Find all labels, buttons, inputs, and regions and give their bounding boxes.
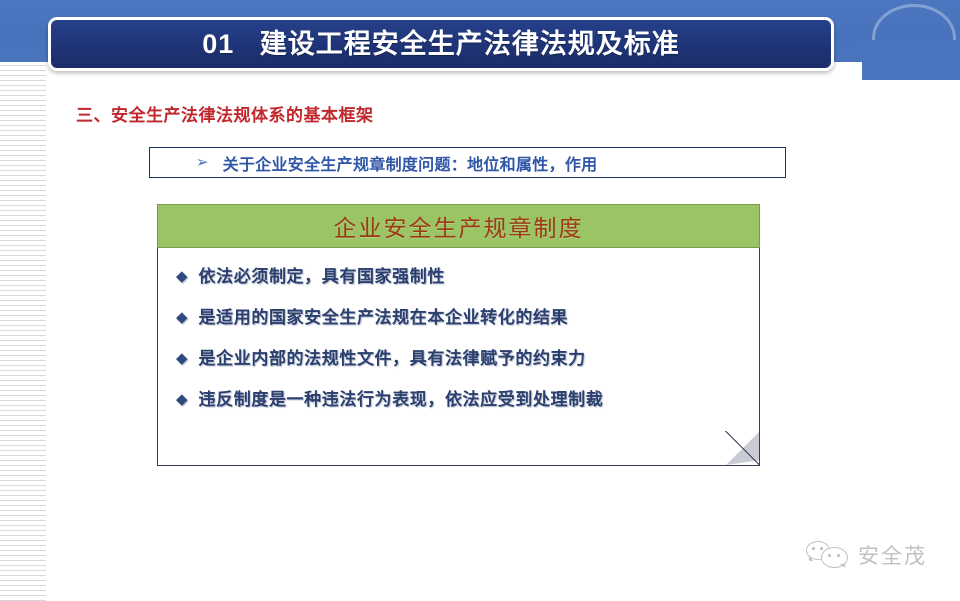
arc-decoration-mask <box>862 40 960 80</box>
bullet-list: ◆ 依法必须制定，具有国家强制性 ◆ 是适用的国家安全生产法规在本企业转化的结果… <box>176 262 751 426</box>
page-title: 建设工程安全生产法律法规及标准 <box>260 31 680 58</box>
wechat-dot <box>820 547 823 550</box>
section-heading: 三、安全生产法律法规体系的基本框架 <box>76 101 374 126</box>
list-item: ◆ 依法必须制定，具有国家强制性 <box>176 262 751 303</box>
card-header: 企业安全生产规章制度 <box>157 204 760 248</box>
wechat-bubble-front-tail <box>840 564 846 569</box>
page-curl-edge <box>725 431 760 466</box>
diamond-bullet-icon: ◆ <box>176 385 188 415</box>
wechat-dot <box>828 554 831 557</box>
list-item: ◆ 是适用的国家安全生产法规在本企业转化的结果 <box>176 303 751 344</box>
left-stripe-decoration <box>0 62 46 601</box>
watermark-label: 安全茂 <box>858 540 927 570</box>
card-header-title: 企业安全生产规章制度 <box>334 209 584 243</box>
list-item-label: 是企业内部的法规性文件，具有法律赋予的约束力 <box>199 344 586 374</box>
wechat-bubble-back-tail <box>809 556 815 561</box>
list-item-label: 是适用的国家安全生产法规在本企业转化的结果 <box>199 303 569 333</box>
diamond-bullet-icon: ◆ <box>176 262 188 292</box>
list-item-label: 依法必须制定，具有国家强制性 <box>199 262 445 292</box>
diamond-bullet-icon: ◆ <box>176 303 188 333</box>
card-body: ◆ 依法必须制定，具有国家强制性 ◆ 是适用的国家安全生产法规在本企业转化的结果… <box>157 248 760 466</box>
watermark: 安全茂 <box>806 540 927 570</box>
list-item: ◆ 违反制度是一种违法行为表现，依法应受到处理制裁 <box>176 385 751 426</box>
list-item: ◆ 是企业内部的法规性文件，具有法律赋予的约束力 <box>176 344 751 385</box>
title-gap <box>234 31 260 58</box>
wechat-icon <box>806 540 850 570</box>
wechat-dot <box>837 554 840 557</box>
subheading-label: 关于企业安全生产规章制度问题：地位和属性，作用 <box>223 151 598 175</box>
slide-canvas: 01 建设工程安全生产法律法规及标准 三、安全生产法律法规体系的基本框架 ➢ 关… <box>0 0 960 601</box>
subheading-box: ➢ 关于企业安全生产规章制度问题：地位和属性，作用 <box>149 147 786 178</box>
page-title-number: 01 <box>202 31 234 58</box>
diamond-bullet-icon: ◆ <box>176 344 188 374</box>
arrow-bullet-icon: ➢ <box>196 155 209 170</box>
slide-title-plaque: 01 建设工程安全生产法律法规及标准 <box>48 17 834 71</box>
wechat-dot <box>812 547 815 550</box>
list-item-label: 违反制度是一种违法行为表现，依法应受到处理制裁 <box>199 385 604 415</box>
content-card: 企业安全生产规章制度 ◆ 依法必须制定，具有国家强制性 ◆ 是适用的国家安全生产… <box>157 204 760 466</box>
